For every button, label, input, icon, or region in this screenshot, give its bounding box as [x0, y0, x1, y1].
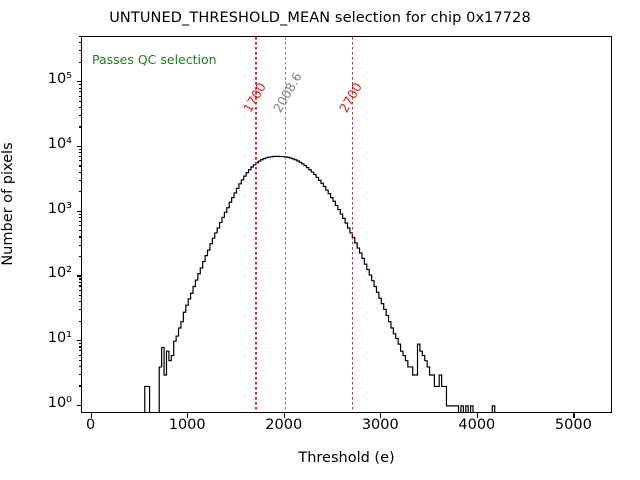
x-tick-label: 3000 — [362, 417, 399, 433]
x-tick-label: 2000 — [265, 417, 302, 433]
y-tick-label: 10³ — [48, 201, 72, 217]
x-tick-label: 5000 — [555, 417, 592, 433]
y-tick-label: 10⁰ — [48, 395, 72, 411]
x-tick-label: 1000 — [169, 417, 206, 433]
y-axis-label: Number of pixels — [0, 24, 16, 384]
qc-status-note: Passes QC selection — [92, 52, 217, 67]
x-tick-mark — [91, 413, 92, 418]
x-axis-label: Threshold (e) — [81, 450, 612, 466]
x-tick-mark — [573, 413, 574, 418]
figure-canvas: UNTUNED_THRESHOLD_MEAN selection for chi… — [0, 0, 640, 480]
chart-title: UNTUNED_THRESHOLD_MEAN selection for chi… — [0, 10, 640, 26]
x-tick-label: 4000 — [458, 417, 495, 433]
x-tick-mark — [187, 413, 188, 418]
y-tick-label: 10⁴ — [48, 136, 72, 152]
x-tick-label: 0 — [86, 417, 95, 433]
x-tick-mark — [477, 413, 478, 418]
x-tick-mark — [380, 413, 381, 418]
x-tick-mark — [284, 413, 285, 418]
y-tick-label: 10¹ — [48, 330, 72, 346]
y-tick-label: 10² — [48, 265, 72, 281]
y-tick-label: 10⁵ — [48, 71, 72, 87]
